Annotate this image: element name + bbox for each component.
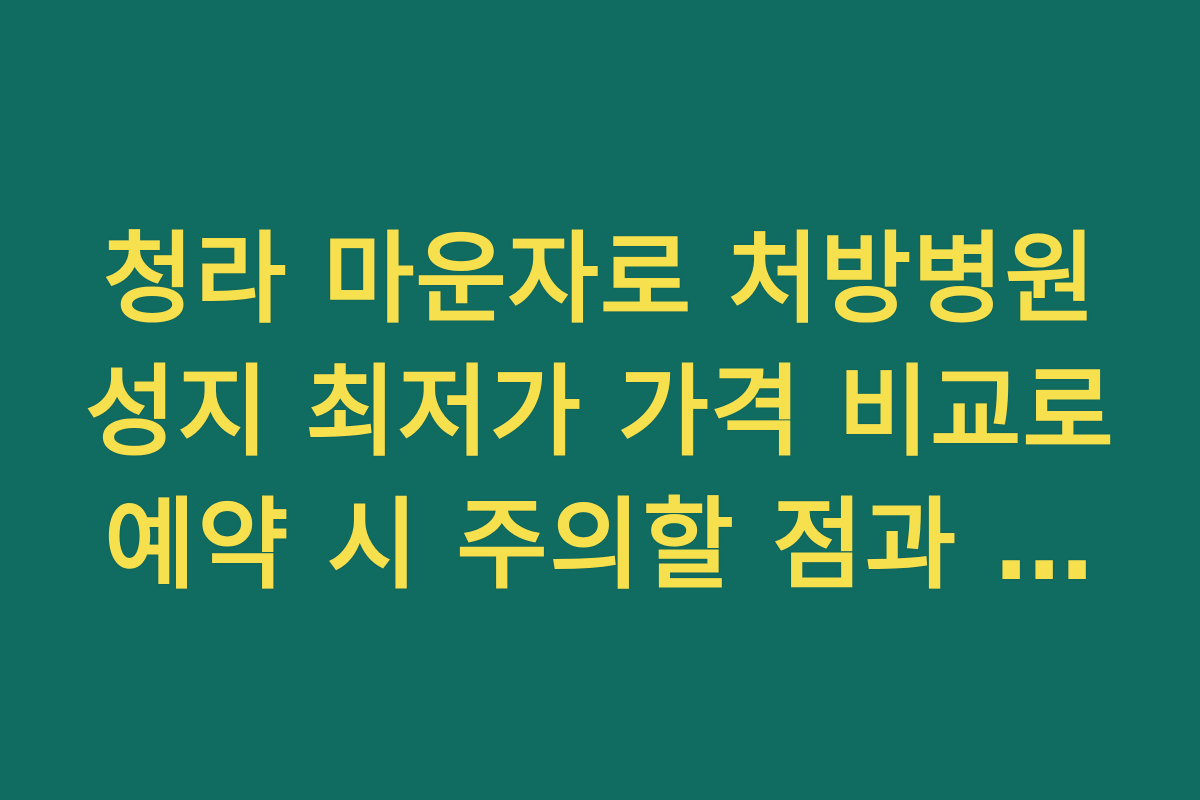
headline-line-2: 성지 최저가 가격 비교로 <box>70 346 1130 479</box>
headline-line-1: 청라 마운자로 처방병원 <box>70 213 1130 346</box>
headline-block: 청라 마운자로 처방병원 성지 최저가 가격 비교로 예약 시 주의할 점과 … <box>70 213 1130 612</box>
headline-line-3: 예약 시 주의할 점과 … <box>70 479 1130 612</box>
title-card: 청라 마운자로 처방병원 성지 최저가 가격 비교로 예약 시 주의할 점과 … <box>0 0 1200 800</box>
